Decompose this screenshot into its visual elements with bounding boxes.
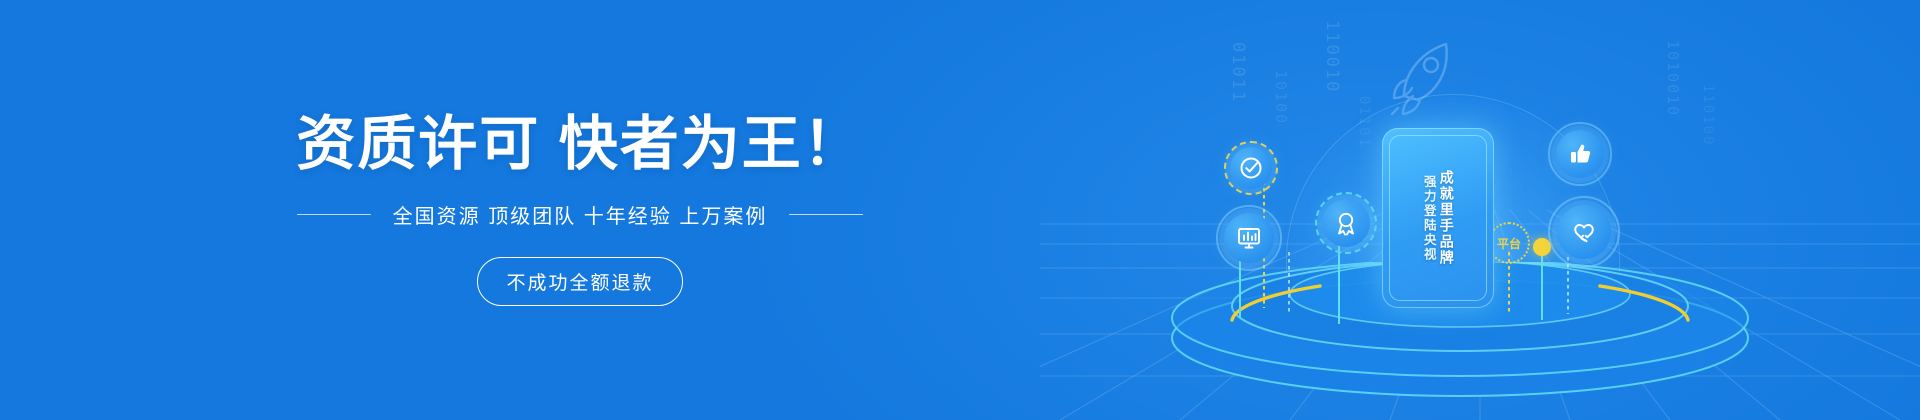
handshake-heart-icon — [1568, 216, 1600, 248]
binary-decor-6: 110100 — [1700, 84, 1716, 147]
medal-ribbon-icon-bubble[interactable] — [1322, 199, 1370, 247]
monitor-chart-icon — [1234, 223, 1264, 253]
medal-ribbon-icon — [1332, 209, 1360, 237]
subtitle-rule-left — [297, 214, 371, 215]
refund-guarantee-button[interactable]: 不成功全额退款 — [477, 257, 682, 306]
handshake-heart-icon-bubble[interactable] — [1557, 205, 1611, 259]
promo-card-line-right: 成就里手品牌 — [1440, 170, 1454, 266]
binary-decor-3: 110010 — [1322, 20, 1342, 93]
binary-decor-5: 1010010 — [1664, 40, 1682, 117]
platform-tag: 平台 — [1488, 222, 1530, 264]
banner-headline: 资质许可 快者为王！ — [296, 115, 863, 174]
thumbs-up-icon — [1566, 140, 1594, 168]
thumbs-up-icon-bubble[interactable] — [1556, 130, 1604, 178]
promo-card-line-left: 强力登陆央视 — [1422, 175, 1435, 262]
promo-card: 成就里手品牌 强力登陆央视 — [1382, 128, 1494, 308]
connector-dots-cyan — [1288, 252, 1290, 312]
banner-text-block: 资质许可 快者为王！ 全国资源 顶级团队 十年经验 上万案例 不成功全额退款 — [0, 0, 1160, 420]
monitor-chart-icon-bubble[interactable] — [1224, 213, 1274, 263]
binary-decor-2: 10100 — [1272, 70, 1290, 125]
banner-subtitle: 全国资源 顶级团队 十年经验 上万案例 — [393, 200, 768, 229]
subtitle-rule-right — [789, 214, 863, 215]
binary-decor-1: 01011 — [1228, 42, 1248, 103]
promo-card-text: 成就里手品牌 强力登陆央视 — [1382, 128, 1494, 308]
banner-subtitle-row: 全国资源 顶级团队 十年经验 上万案例 — [297, 200, 864, 229]
check-circle-icon-bubble[interactable] — [1230, 147, 1272, 189]
platform-tag-label: 平台 — [1497, 235, 1521, 252]
promo-banner: 01011 10100 110010 01101 1010010 110100 — [0, 0, 1920, 420]
check-circle-icon — [1238, 155, 1264, 181]
